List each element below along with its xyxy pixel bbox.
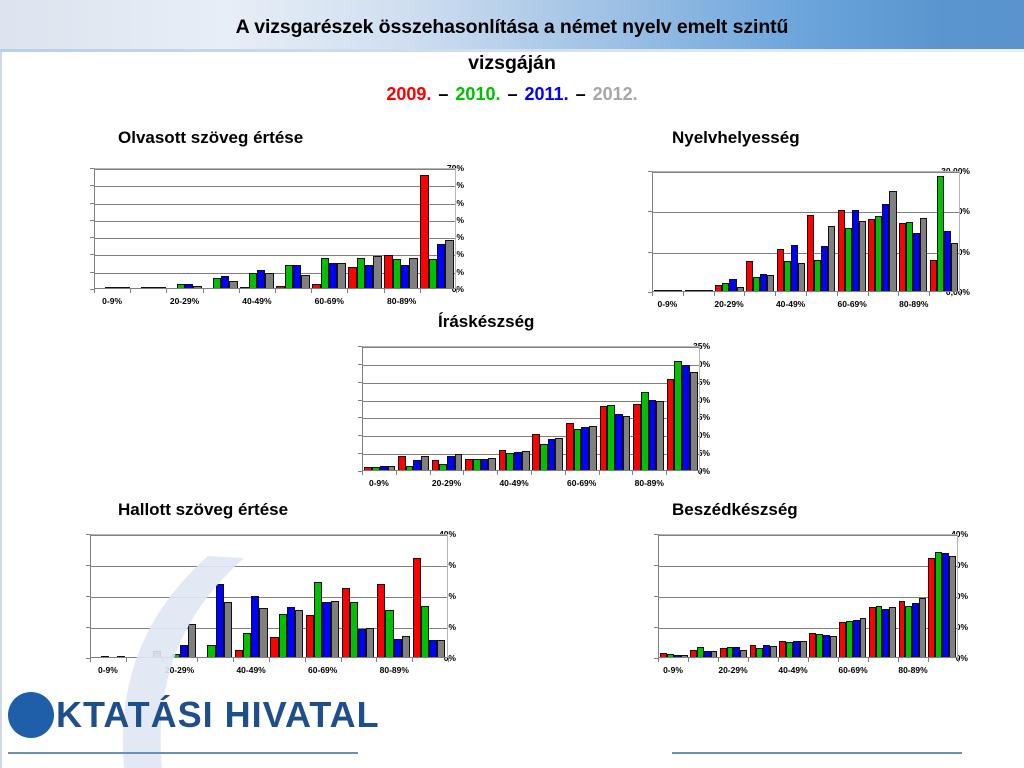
bar[interactable]	[213, 278, 221, 288]
x-axis-tick	[928, 658, 929, 662]
bar[interactable]	[641, 392, 649, 470]
x-axis-label: 40-49%	[236, 665, 265, 675]
bar[interactable]	[301, 275, 309, 288]
bar[interactable]	[372, 467, 380, 470]
bar[interactable]	[654, 290, 661, 291]
bar-group	[397, 347, 431, 470]
bar[interactable]	[737, 287, 744, 291]
bar[interactable]	[141, 287, 149, 288]
bar[interactable]	[615, 414, 623, 470]
bar[interactable]	[421, 606, 429, 657]
bar[interactable]	[692, 290, 699, 291]
x-axis-tick	[929, 292, 930, 296]
bar[interactable]	[207, 645, 215, 657]
bar[interactable]	[667, 379, 675, 470]
bar[interactable]	[756, 648, 763, 657]
bar-group	[808, 535, 838, 657]
x-axis-tick	[898, 292, 899, 296]
bar[interactable]	[185, 284, 193, 288]
bar[interactable]	[293, 265, 301, 288]
chart-nyelvhelyesseg: 0,00%10,00%20,00%30,00%0-9%20-29%40-49%6…	[578, 163, 970, 313]
bar[interactable]	[889, 607, 896, 657]
bar[interactable]	[928, 558, 935, 657]
bar-group	[311, 169, 347, 288]
bar[interactable]	[506, 453, 514, 471]
bar[interactable]	[295, 610, 303, 657]
bar[interactable]	[265, 273, 273, 288]
bar[interactable]	[420, 175, 428, 288]
bar[interactable]	[846, 621, 853, 657]
bar[interactable]	[499, 450, 507, 470]
bar-group	[430, 347, 464, 470]
x-axis-tick	[311, 289, 312, 293]
bar[interactable]	[633, 404, 641, 470]
page-title-line2: vizsgáján	[0, 52, 1024, 75]
x-axis-tick	[269, 658, 270, 662]
bar-group	[95, 169, 131, 288]
bar-group	[419, 169, 455, 288]
x-axis-label: 20-29%	[718, 665, 747, 675]
page-title-line1: A vizsgarészek összehasonlítása a német …	[0, 16, 1024, 39]
x-axis-tick	[412, 658, 413, 662]
bar[interactable]	[149, 287, 157, 288]
x-axis-tick	[688, 658, 689, 662]
x-axis-tick	[239, 289, 240, 293]
bar[interactable]	[839, 622, 846, 657]
x-axis-tick	[497, 471, 498, 475]
bar[interactable]	[784, 261, 791, 291]
bar[interactable]	[823, 635, 830, 657]
bar[interactable]	[793, 641, 800, 657]
chart-olvasott-szoveg-ertese: 0%10%20%30%40%50%60%70%0-9%20-29%40-49%6…	[34, 160, 464, 310]
bar-groups	[91, 535, 447, 657]
bar[interactable]	[393, 259, 401, 288]
x-axis-tick	[744, 292, 745, 296]
bar[interactable]	[555, 438, 563, 471]
x-axis-tick	[275, 289, 276, 293]
bar[interactable]	[589, 426, 597, 470]
bar[interactable]	[358, 629, 366, 657]
bar[interactable]	[481, 459, 489, 470]
bar[interactable]	[421, 456, 429, 470]
bar-group	[745, 172, 776, 291]
bar[interactable]	[380, 466, 388, 470]
bar[interactable]	[429, 259, 437, 288]
chart-hallott-szoveg-ertese: 0%10%20%30%40%0-9%20-29%40-49%60-69%80-8…	[36, 528, 456, 683]
bar[interactable]	[699, 290, 706, 291]
bar[interactable]	[807, 215, 814, 291]
bar-group	[778, 535, 808, 657]
bar-group	[927, 535, 957, 657]
bar[interactable]	[920, 218, 927, 291]
x-axis-label: 20-29%	[170, 296, 199, 306]
x-axis-tick	[652, 292, 653, 296]
bar-group	[127, 535, 163, 657]
x-axis-tick	[305, 658, 306, 662]
bar[interactable]	[385, 610, 393, 657]
x-axis-label: 60-69%	[308, 665, 337, 675]
bar[interactable]	[722, 283, 729, 291]
bar[interactable]	[432, 460, 440, 470]
plot-area	[90, 534, 448, 658]
bar[interactable]	[770, 646, 777, 657]
x-axis-tick	[448, 658, 449, 662]
bar[interactable]	[711, 651, 718, 657]
bar[interactable]	[882, 609, 889, 657]
bar-group	[665, 347, 699, 470]
chart-iraskeszseg: 0%5%10%15%20%25%30%35%0-9%20-29%40-49%60…	[310, 340, 710, 495]
bar[interactable]	[364, 467, 372, 470]
bar[interactable]	[117, 656, 125, 657]
bar[interactable]	[312, 284, 320, 288]
bar-group	[305, 535, 341, 657]
bar[interactable]	[447, 456, 455, 470]
x-axis-tick	[94, 289, 95, 293]
bar[interactable]	[800, 641, 807, 657]
bar[interactable]	[366, 628, 374, 657]
x-axis-tick	[203, 289, 204, 293]
bar[interactable]	[105, 287, 113, 288]
bar-groups	[363, 347, 699, 470]
bar[interactable]	[868, 219, 875, 291]
bar[interactable]	[522, 451, 530, 470]
bar[interactable]	[816, 634, 823, 657]
bar[interactable]	[860, 618, 867, 657]
bar[interactable]	[838, 210, 845, 291]
bar[interactable]	[514, 452, 522, 470]
bar[interactable]	[753, 277, 760, 291]
bar[interactable]	[473, 459, 481, 470]
bar[interactable]	[331, 601, 339, 657]
bar[interactable]	[905, 606, 912, 657]
x-axis-ticks	[652, 292, 960, 296]
bar[interactable]	[930, 260, 937, 291]
bar-groups	[95, 169, 455, 288]
bar[interactable]	[581, 427, 589, 470]
bar[interactable]	[566, 423, 574, 470]
bar[interactable]	[445, 240, 453, 288]
bar[interactable]	[235, 650, 243, 657]
bar[interactable]	[809, 633, 816, 657]
bar[interactable]	[814, 260, 821, 291]
bar[interactable]	[287, 607, 295, 657]
bar-group	[838, 535, 868, 657]
bar[interactable]	[188, 624, 196, 657]
bar-group	[497, 347, 531, 470]
bar[interactable]	[852, 210, 859, 291]
bar[interactable]	[656, 401, 664, 470]
bar[interactable]	[398, 456, 406, 470]
bar[interactable]	[682, 365, 690, 470]
bar[interactable]	[607, 405, 615, 470]
bar[interactable]	[314, 582, 322, 657]
bar[interactable]	[357, 258, 365, 288]
footer-rule-left	[8, 752, 358, 754]
x-axis-tick	[420, 289, 421, 293]
bar[interactable]	[760, 274, 767, 291]
bar[interactable]	[944, 231, 951, 291]
x-axis-label: 20-29%	[165, 665, 194, 675]
bar[interactable]	[674, 361, 682, 470]
bar[interactable]	[690, 650, 697, 657]
x-axis-label: 0-9%	[657, 299, 677, 309]
bar[interactable]	[828, 226, 835, 291]
bar[interactable]	[767, 275, 774, 291]
bar[interactable]	[348, 267, 356, 288]
bar[interactable]	[690, 372, 698, 470]
bar[interactable]	[746, 261, 753, 291]
bar[interactable]	[259, 608, 267, 657]
bar-group	[198, 535, 234, 657]
bar[interactable]	[329, 263, 337, 288]
bar[interactable]	[706, 290, 713, 291]
bar[interactable]	[285, 265, 293, 289]
bar[interactable]	[942, 553, 949, 657]
year-legend-line: 2009. – 2010. – 2011. – 2012.	[0, 84, 1024, 105]
bar[interactable]	[912, 603, 919, 657]
bar[interactable]	[798, 263, 805, 291]
x-axis-tick	[898, 658, 899, 662]
bar[interactable]	[685, 290, 692, 291]
x-axis-tick	[748, 658, 749, 662]
bar[interactable]	[121, 287, 129, 288]
plot-area	[658, 534, 958, 658]
bar[interactable]	[540, 444, 548, 470]
bar[interactable]	[402, 636, 410, 657]
bar[interactable]	[674, 655, 681, 657]
bar[interactable]	[661, 290, 668, 291]
bar[interactable]	[704, 651, 711, 658]
bar-group	[203, 169, 239, 288]
bar[interactable]	[377, 584, 385, 657]
bar[interactable]	[350, 602, 358, 657]
bar[interactable]	[322, 602, 330, 657]
bar[interactable]	[777, 249, 784, 291]
bar[interactable]	[532, 434, 540, 470]
bar-group	[464, 347, 498, 470]
x-axis-label: 40-49%	[242, 296, 271, 306]
bar[interactable]	[623, 416, 631, 470]
logo-o-circle-icon	[8, 692, 54, 738]
bar[interactable]	[763, 645, 770, 657]
bar-group	[347, 169, 383, 288]
bar[interactable]	[875, 216, 882, 291]
chart-title-beszedkeszseg: Beszédkészség	[672, 500, 798, 520]
bar[interactable]	[394, 639, 402, 657]
bar-group	[565, 347, 599, 470]
slide-left-edge	[0, 0, 2, 768]
bar[interactable]	[853, 620, 860, 657]
bar-group	[837, 172, 868, 291]
x-axis-tick	[683, 292, 684, 296]
bar[interactable]	[668, 290, 675, 291]
bar[interactable]	[600, 406, 608, 470]
x-axis-label: 0-9%	[102, 296, 122, 306]
x-axis-tick	[197, 658, 198, 662]
bar[interactable]	[337, 263, 345, 288]
bar[interactable]	[845, 228, 852, 291]
bar[interactable]	[786, 642, 793, 657]
x-axis-tick	[775, 292, 776, 296]
bar-groups	[659, 535, 957, 657]
bar[interactable]	[224, 602, 232, 657]
bar[interactable]	[951, 243, 958, 291]
bar[interactable]	[306, 615, 314, 657]
x-axis-tick	[362, 471, 363, 475]
bar[interactable]	[899, 223, 906, 291]
bar[interactable]	[740, 650, 747, 657]
x-axis-ticks	[94, 289, 456, 293]
bar[interactable]	[488, 458, 496, 470]
bar[interactable]	[899, 601, 906, 657]
bar[interactable]	[270, 637, 278, 657]
bar[interactable]	[243, 633, 251, 657]
bar[interactable]	[649, 400, 657, 470]
bar[interactable]	[574, 429, 582, 470]
bar[interactable]	[727, 647, 734, 657]
bar-group	[653, 172, 684, 291]
x-axis-tick	[384, 289, 385, 293]
bar[interactable]	[937, 176, 944, 291]
bar[interactable]	[675, 290, 682, 291]
bar[interactable]	[437, 640, 445, 657]
bar[interactable]	[667, 654, 674, 657]
bar-group	[162, 535, 198, 657]
bar[interactable]	[257, 270, 265, 288]
bar[interactable]	[279, 614, 287, 657]
bar[interactable]	[321, 258, 329, 288]
bar[interactable]	[791, 245, 798, 291]
year-2011: 2011.	[525, 84, 569, 104]
x-axis-tick	[868, 658, 869, 662]
bar[interactable]	[388, 466, 396, 470]
bar[interactable]	[697, 647, 704, 657]
x-axis-label: 20-29%	[714, 299, 743, 309]
bar[interactable]	[240, 287, 248, 288]
bar[interactable]	[153, 651, 161, 657]
x-axis-tick	[162, 658, 163, 662]
bar[interactable]	[779, 641, 786, 657]
bar[interactable]	[413, 460, 421, 470]
bar[interactable]	[660, 653, 667, 657]
bar[interactable]	[913, 233, 920, 291]
x-axis-label: 20-29%	[432, 478, 461, 488]
x-axis-label: 60-69%	[838, 665, 867, 675]
bar[interactable]	[216, 584, 224, 657]
x-axis-tick	[376, 658, 377, 662]
bar[interactable]	[889, 191, 896, 291]
bar[interactable]	[157, 287, 165, 288]
plot-area	[652, 171, 960, 292]
bar[interactable]	[101, 656, 109, 657]
bar[interactable]	[193, 286, 201, 288]
bar[interactable]	[180, 645, 188, 657]
bar[interactable]	[342, 588, 350, 657]
bar-group	[897, 535, 927, 657]
year-separator-1: –	[438, 84, 448, 104]
bar[interactable]	[821, 246, 828, 291]
bar[interactable]	[919, 598, 926, 657]
chart-title-hallott: Hallott szöveg értése	[118, 500, 288, 520]
bar[interactable]	[177, 284, 185, 288]
bar[interactable]	[906, 222, 913, 291]
bar-group	[898, 172, 929, 291]
bar-group	[868, 535, 898, 657]
bar[interactable]	[401, 265, 409, 289]
x-axis-label: 60-69%	[838, 299, 867, 309]
bar[interactable]	[548, 439, 556, 470]
x-axis-tick	[778, 658, 779, 662]
bar[interactable]	[172, 654, 180, 657]
bar[interactable]	[935, 552, 942, 657]
bar[interactable]	[437, 244, 445, 288]
bar[interactable]	[830, 636, 837, 657]
bar[interactable]	[276, 286, 284, 288]
bar-group	[632, 347, 666, 470]
bar[interactable]	[439, 464, 447, 470]
bar[interactable]	[882, 204, 889, 291]
bar[interactable]	[365, 265, 373, 288]
x-axis-tick	[666, 471, 667, 475]
year-2012: 2012.	[593, 84, 638, 104]
bar-group	[598, 347, 632, 470]
bar[interactable]	[681, 655, 688, 657]
x-axis-label: 60-69%	[567, 478, 596, 488]
bar-group	[719, 535, 749, 657]
bar[interactable]	[715, 285, 722, 291]
bar[interactable]	[229, 281, 237, 288]
bar[interactable]	[249, 273, 257, 288]
bar-group	[689, 535, 719, 657]
bar[interactable]	[406, 466, 414, 470]
bar[interactable]	[729, 279, 736, 291]
bar[interactable]	[876, 606, 883, 657]
logo-text: KTATÁSI HIVATAL	[56, 694, 380, 736]
bar[interactable]	[429, 640, 437, 657]
x-axis-tick	[166, 289, 167, 293]
x-axis-tick	[808, 658, 809, 662]
bar[interactable]	[720, 648, 727, 657]
x-axis-label: 0-9%	[663, 665, 683, 675]
bar[interactable]	[869, 607, 876, 657]
bar[interactable]	[221, 276, 229, 288]
bar[interactable]	[413, 558, 421, 658]
bar[interactable]	[750, 645, 757, 657]
bar[interactable]	[251, 596, 259, 657]
bar[interactable]	[949, 556, 956, 657]
bar[interactable]	[733, 647, 740, 657]
bar[interactable]	[113, 287, 121, 288]
x-axis-tick	[463, 471, 464, 475]
bar[interactable]	[859, 221, 866, 291]
bar[interactable]	[384, 255, 392, 288]
plot-area	[94, 168, 456, 289]
chart-title-nyelvhelyesseg: Nyelvhelyesség	[672, 128, 800, 148]
bar-group	[239, 169, 275, 288]
x-axis-tick	[130, 289, 131, 293]
slide-canvas: A vizsgarészek összehasonlítása a német …	[0, 0, 1024, 768]
bar[interactable]	[455, 454, 463, 470]
bar[interactable]	[409, 258, 417, 288]
x-axis-tick	[700, 471, 701, 475]
x-axis-label: 40-49%	[499, 478, 528, 488]
bar[interactable]	[373, 256, 381, 288]
bar[interactable]	[465, 459, 473, 470]
plot-area	[362, 346, 700, 471]
x-axis-label: 80-89%	[635, 478, 664, 488]
x-axis-label: 40-49%	[776, 299, 805, 309]
x-axis-tick	[396, 471, 397, 475]
